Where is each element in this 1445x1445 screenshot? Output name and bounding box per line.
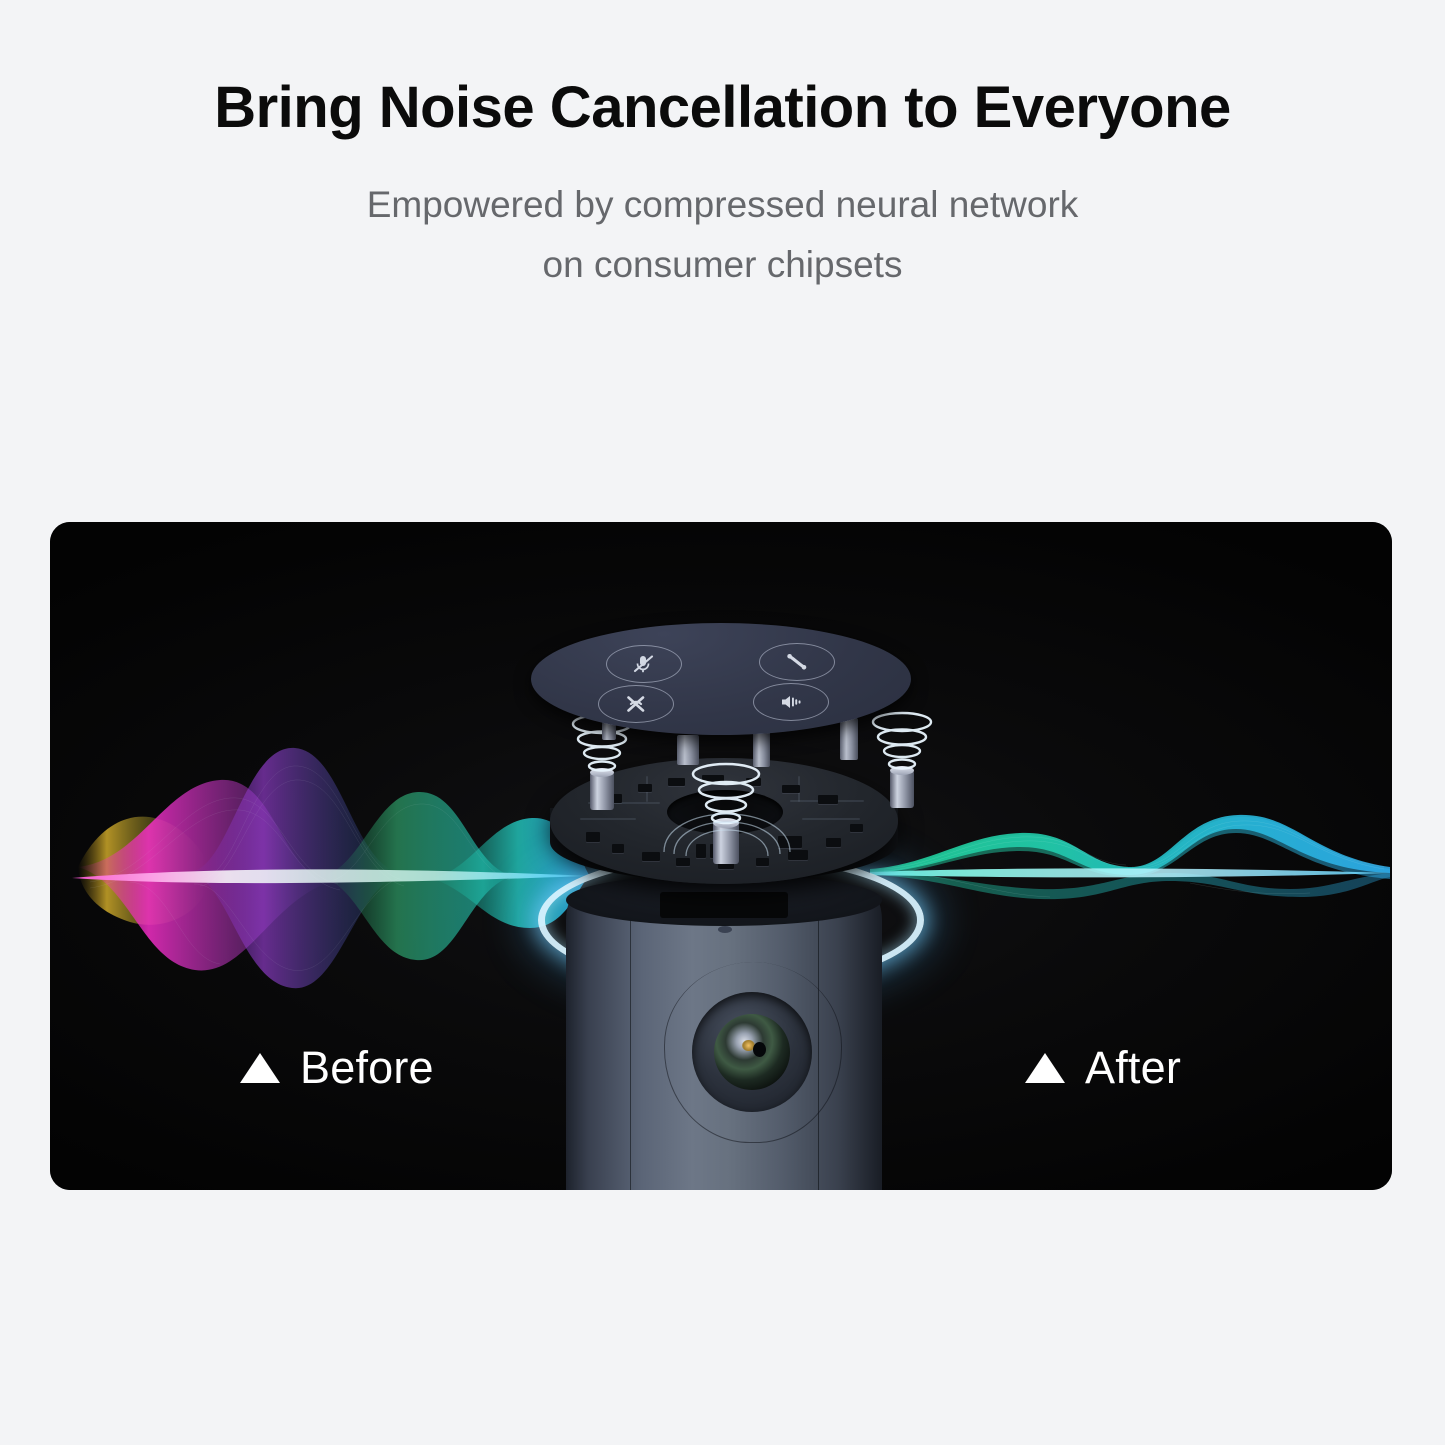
subtitle-line-2: on consumer chipsets [0, 235, 1445, 295]
after-waveform [870, 777, 1390, 952]
after-label-group: After [1025, 1042, 1181, 1094]
after-label: After [1085, 1042, 1181, 1094]
product-showcase-panel: Before After [50, 522, 1392, 1190]
header: Bring Noise Cancellation to Everyone Emp… [0, 0, 1445, 295]
page-title: Bring Noise Cancellation to Everyone [0, 0, 1445, 139]
before-label: Before [300, 1042, 434, 1094]
before-label-group: Before [240, 1042, 434, 1094]
subtitle-line-1: Empowered by compressed neural network [0, 175, 1445, 235]
page-subtitle: Empowered by compressed neural network o… [0, 139, 1445, 295]
before-waveform [70, 732, 590, 1002]
up-triangle-icon [1025, 1053, 1065, 1083]
up-triangle-icon [240, 1053, 280, 1083]
